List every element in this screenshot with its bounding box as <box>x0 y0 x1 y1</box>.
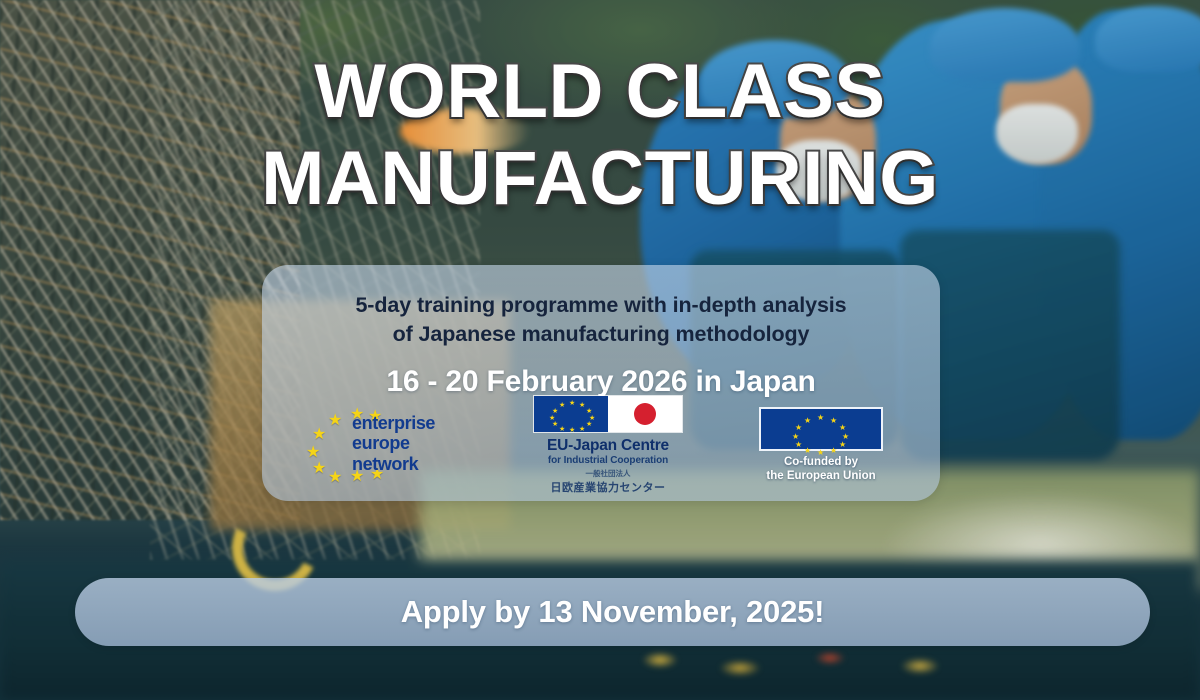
logo-row: ★ ★ ★ ★ ★ ★ ★ ★ ★ enterprise europe netw… <box>262 399 940 491</box>
programme-subtitle: 5-day training programme with in-depth a… <box>290 291 912 349</box>
apply-deadline-banner[interactable]: Apply by 13 November, 2025! <box>75 578 1150 646</box>
eu-japan-centre-title: EU-Japan Centre <box>524 437 692 455</box>
een-wordmark: enterprise europe network <box>352 413 435 474</box>
eu-flag-icon: ★ ★ ★ ★ ★ ★ ★ ★ ★ ★ ★ ★ <box>534 396 608 432</box>
eu-japan-centre-jp-main: 日欧産業協力センター <box>524 479 692 495</box>
programme-subtitle-line-2: of Japanese manufacturing methodology <box>290 320 912 349</box>
eu-japan-centre-jp-small: 一般社団法人 <box>524 468 692 479</box>
japan-sun-disc <box>634 403 656 425</box>
een-word-1: enterprise <box>352 413 435 433</box>
een-word-2: europe <box>352 433 435 453</box>
een-word-3: network <box>352 454 435 474</box>
enterprise-europe-network-logo: ★ ★ ★ ★ ★ ★ ★ ★ ★ enterprise europe netw… <box>306 407 470 483</box>
eu-japan-centre-subtitle: for Industrial Cooperation <box>524 455 692 466</box>
programme-subtitle-line-1: 5-day training programme with in-depth a… <box>290 291 912 320</box>
poster-canvas: WORLD CLASS MANUFACTURING 5-day training… <box>0 0 1200 700</box>
japan-flag-icon <box>608 396 682 432</box>
co-funded-caption: Co-funded by the European Union <box>746 456 896 483</box>
eu-japan-flags: ★ ★ ★ ★ ★ ★ ★ ★ ★ ★ ★ ★ <box>533 395 683 433</box>
eu-flag-icon: ★ ★ ★ ★ ★ ★ ★ ★ ★ ★ ★ ★ <box>759 407 883 451</box>
co-funded-line-1: Co-funded by <box>746 456 896 470</box>
co-funded-by-the-european-union-logo: ★ ★ ★ ★ ★ ★ ★ ★ ★ ★ ★ ★ Co-funded by the… <box>746 407 896 483</box>
co-funded-line-2: the European Union <box>746 470 896 484</box>
apply-deadline-text: Apply by 13 November, 2025! <box>401 594 825 630</box>
eu-japan-centre-logo: ★ ★ ★ ★ ★ ★ ★ ★ ★ ★ ★ ★ <box>524 395 692 495</box>
info-panel: 5-day training programme with in-depth a… <box>262 265 940 501</box>
programme-dates: 16 - 20 February 2026 in Japan <box>262 365 940 399</box>
